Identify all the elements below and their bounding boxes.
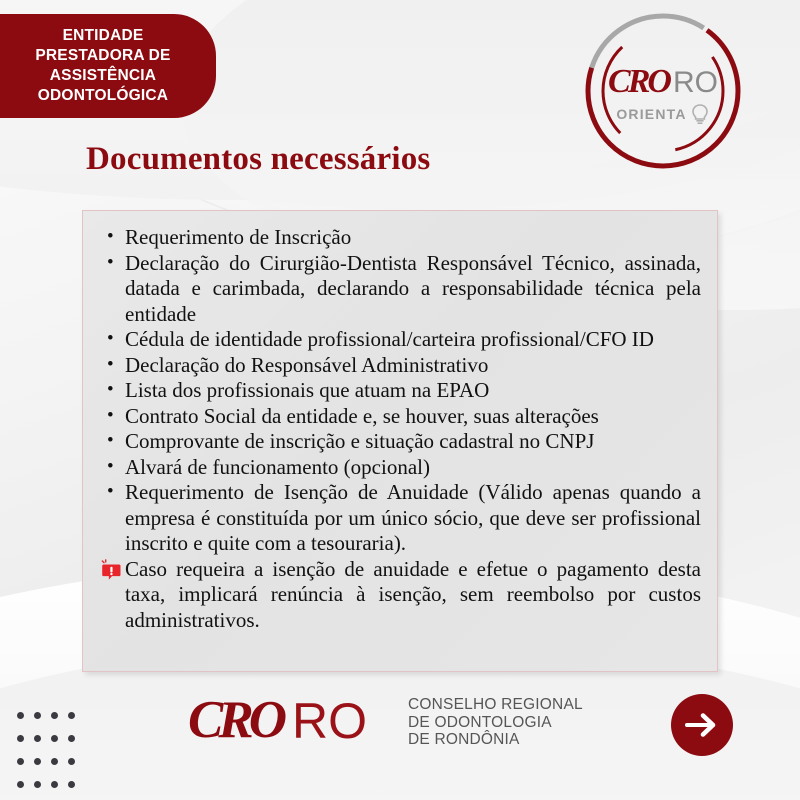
exclamation-bubble-icon — [100, 559, 124, 583]
list-item: Declaração do Responsável Administrativo — [101, 353, 701, 379]
documents-list: Requerimento de Inscrição Declaração do … — [101, 225, 701, 557]
dot-grid-decoration — [17, 712, 85, 800]
list-item: Requerimento de Inscrição — [101, 225, 701, 251]
badge-subtitle: ORIENTA — [616, 106, 686, 122]
footer-ro-wordmark: RO — [292, 696, 367, 746]
list-item: Lista dos profissionais que atuam na EPA… — [101, 378, 701, 404]
next-button[interactable] — [671, 694, 733, 756]
entity-banner-text: ENTIDADE PRESTADORA DE ASSISTÊNCIA ODONT… — [35, 26, 170, 106]
list-item: Declaração do Cirurgião-Dentista Respons… — [101, 251, 701, 328]
slide-canvas: ENTIDADE PRESTADORA DE ASSISTÊNCIA ODONT… — [0, 0, 800, 800]
list-item: Cédula de identidade profissional/cartei… — [101, 327, 701, 353]
badge-ro-wordmark: RO — [673, 68, 718, 98]
arrow-right-icon — [684, 710, 720, 740]
documents-panel: Requerimento de Inscrição Declaração do … — [82, 210, 718, 672]
footer-description: CONSELHO REGIONAL DE ODONTOLOGIA DE ROND… — [408, 696, 583, 749]
badge-cro-wordmark: CRO — [608, 65, 669, 99]
cro-orienta-badge: CRO RO ORIENTA — [580, 8, 746, 174]
footer-cro-wordmark: CRO — [188, 694, 282, 747]
list-item: Comprovante de inscrição e situação cada… — [101, 429, 701, 455]
list-item: Alvará de funcionamento (opcional) — [101, 455, 701, 481]
warning-note: Caso requeira a isenção de anuidade e ef… — [101, 557, 701, 634]
warning-note-text: Caso requeira a isenção de anuidade e ef… — [125, 557, 701, 632]
footer-logo: CRO RO — [188, 694, 367, 747]
lightbulb-icon — [690, 103, 710, 125]
list-item: Contrato Social da entidade e, se houver… — [101, 404, 701, 430]
entity-banner: ENTIDADE PRESTADORA DE ASSISTÊNCIA ODONT… — [0, 14, 216, 118]
page-title: Documentos necessários — [86, 141, 430, 178]
list-item: Requerimento de Isenção de Anuidade (Vál… — [101, 480, 701, 557]
